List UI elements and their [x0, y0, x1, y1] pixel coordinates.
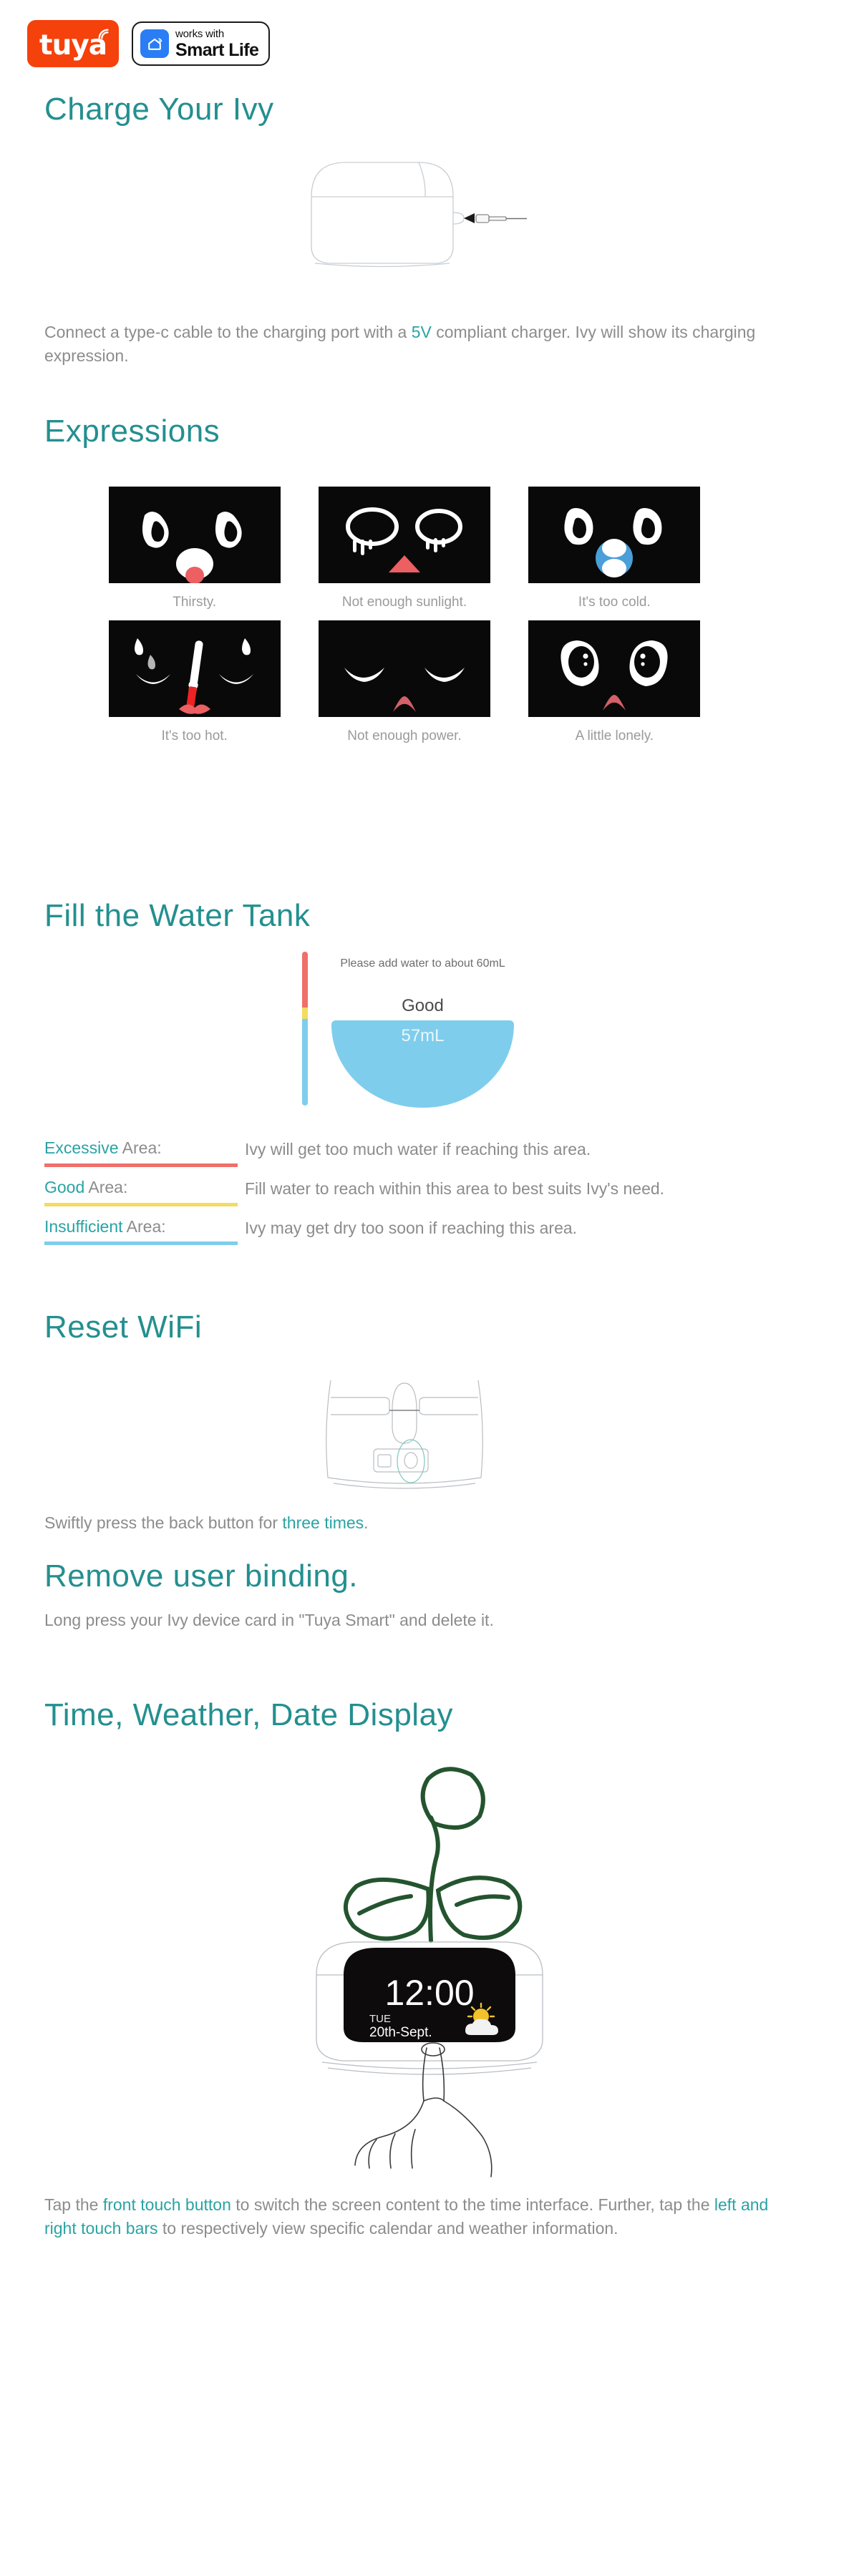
water-tank-fill: 57mL [331, 1020, 514, 1108]
expression-label: Not enough sunlight. [342, 595, 467, 610]
area-legend-row: Excessive Area: Ivy will get too much wa… [44, 1138, 817, 1167]
water-tank-heading: Fill the Water Tank [44, 898, 310, 934]
expression-item: It's too hot. [107, 620, 281, 744]
svg-text:20th-Sept.: 20th-Sept. [369, 2025, 432, 2040]
expression-item: Thirsty. [107, 487, 281, 610]
reset-wifi-body: Swiftly press the back button for three … [44, 1511, 775, 1535]
expressions-heading: Expressions [44, 414, 220, 449]
water-area-legend: Excessive Area: Ivy will get too much wa… [44, 1138, 817, 1255]
expression-label: A little lonely. [576, 728, 654, 744]
water-level-scale [302, 952, 308, 1106]
tuya-logo-text: tuya [39, 31, 107, 59]
works-with-smart-life-badge: works with Smart Life [132, 21, 270, 66]
ivy-back-button-illustration [286, 1377, 523, 1499]
time-body-part2: to switch the screen content to the time… [231, 2195, 714, 2214]
expression-label: Thirsty. [173, 595, 216, 610]
water-tank-good-label: Good [328, 996, 518, 1016]
charge-body-accent: 5V [412, 323, 432, 341]
expression-item: Not enough sunlight. [317, 487, 491, 610]
smart-life-label: Smart Life [175, 42, 258, 59]
area-legend-keyword: Insufficient [44, 1217, 123, 1236]
time-body-part3: to respectively view specific calendar a… [158, 2219, 618, 2238]
screen-time: 12:00 [384, 1973, 474, 2013]
charge-heading: Charge Your Ivy [44, 92, 274, 127]
area-legend-key-rest: Area: [119, 1138, 162, 1157]
water-tank-note: Please add water to about 60mL [328, 956, 518, 972]
remove-binding-body: Long press your Ivy device card in "Tuya… [44, 1609, 775, 1632]
area-legend-desc: Ivy may get dry too soon if reaching thi… [238, 1216, 817, 1239]
wifi-icon [97, 28, 110, 41]
reset-wifi-body-pre: Swiftly press the back button for [44, 1513, 282, 1532]
area-legend-desc: Ivy will get too much water if reaching … [238, 1138, 817, 1161]
works-with-label: works with [175, 29, 258, 39]
charge-body: Connect a type-c cable to the charging p… [44, 321, 775, 367]
scale-excessive-segment [302, 952, 308, 1008]
area-legend-key-rest: Area: [84, 1178, 127, 1196]
reset-wifi-body-accent: three times [282, 1513, 364, 1532]
manual-page: tuya works with Smart Life Charge Your I… [0, 0, 859, 2576]
area-legend-key-rest: Area: [123, 1217, 166, 1236]
thirsty-face [109, 487, 281, 583]
reset-wifi-heading: Reset WiFi [44, 1309, 202, 1345]
not-enough-power-face [319, 620, 490, 717]
not-enough-sunlight-face [319, 487, 490, 583]
tuya-logo: tuya [27, 20, 119, 67]
too-cold-face [528, 487, 700, 583]
reset-wifi-body-post: . [364, 1513, 368, 1532]
time-display-body: Tap the front touch button to switch the… [44, 2193, 796, 2240]
svg-text:TUE: TUE [369, 2013, 391, 2025]
ivy-clock-hand-illustration: 12:00 TUE 20th-Sept. [236, 1739, 623, 2182]
time-body-part1: Tap the [44, 2195, 103, 2214]
charge-body-pre: Connect a type-c cable to the charging p… [44, 323, 412, 341]
expression-item: It's too cold. [528, 487, 702, 610]
area-legend-row: Insufficient Area: Ivy may get dry too s… [44, 1216, 817, 1246]
scale-insufficient-segment [302, 1019, 308, 1106]
ivy-charging-port-illustration [272, 147, 544, 283]
home-icon [140, 29, 169, 58]
expressions-grid: Thirsty. [107, 487, 702, 744]
area-legend-row: Good Area: Fill water to reach within th… [44, 1177, 817, 1206]
area-legend-desc: Fill water to reach within this area to … [238, 1177, 817, 1200]
expression-label: It's too hot. [161, 728, 227, 744]
lonely-face [528, 620, 700, 717]
water-tank-diagram: Please add water to about 60mL Good 57mL [286, 952, 523, 1109]
time-body-accent1: front touch button [103, 2195, 231, 2214]
expression-item: Not enough power. [317, 620, 491, 744]
area-legend-keyword: Good [44, 1178, 84, 1196]
scale-good-segment [302, 1008, 308, 1019]
expression-label: Not enough power. [347, 728, 462, 744]
expression-label: It's too cold. [578, 595, 651, 610]
too-hot-face [109, 620, 281, 717]
area-legend-keyword: Excessive [44, 1138, 119, 1157]
area-legend-key: Insufficient Area: [44, 1216, 238, 1246]
water-tank-value: 57mL [401, 1026, 444, 1108]
area-legend-key: Excessive Area: [44, 1138, 238, 1167]
area-legend-key: Good Area: [44, 1177, 238, 1206]
time-display-heading: Time, Weather, Date Display [44, 1697, 453, 1733]
remove-binding-heading: Remove user binding. [44, 1558, 358, 1594]
brand-logos: tuya works with Smart Life [27, 20, 270, 67]
expression-item: A little lonely. [528, 620, 702, 744]
